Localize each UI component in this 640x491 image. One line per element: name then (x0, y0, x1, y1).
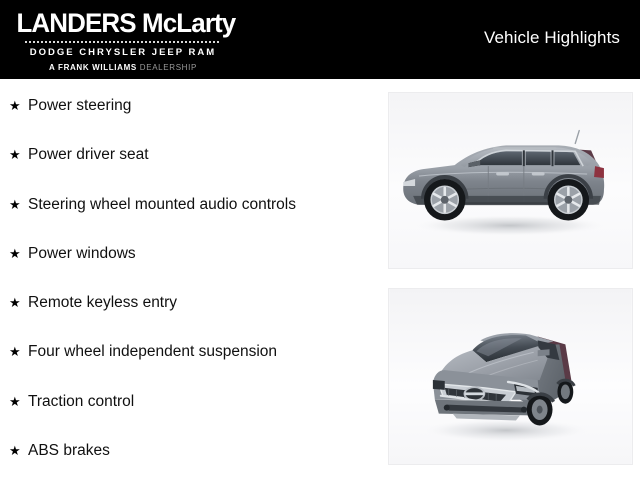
list-item-label: Power steering (28, 97, 388, 115)
vehicle-highlights-list: ★ Power steering ★ Power driver seat ★ S… (0, 79, 388, 480)
logo-tagline: A FRANK WILLIAMS DEALERSHIP (12, 62, 234, 74)
list-item-label: Four wheel independent suspension (28, 343, 388, 361)
list-item-label: Power windows (28, 245, 388, 263)
vehicle-photo-column (388, 79, 640, 480)
star-bullet-icon: ★ (9, 294, 28, 312)
list-item: ★ Power steering (0, 97, 388, 146)
list-item-label: Remote keyless entry (28, 294, 388, 312)
star-bullet-icon: ★ (9, 146, 28, 164)
list-item-label: Traction control (28, 393, 388, 411)
logo-tagline-bold: A FRANK WILLIAMS (49, 63, 137, 72)
star-bullet-icon: ★ (9, 343, 28, 361)
page-header: LANDERS McLarty DODGE CHRYSLER JEEP RAM … (0, 0, 640, 79)
list-item: ★ Steering wheel mounted audio controls (0, 196, 388, 245)
logo-brands-line: DODGE CHRYSLER JEEP RAM (12, 46, 234, 60)
list-item-label: ABS brakes (28, 442, 388, 460)
logo-divider-icon (25, 41, 221, 43)
star-bullet-icon: ★ (9, 245, 28, 263)
star-bullet-icon: ★ (9, 393, 28, 411)
logo-wordmark: LANDERS McLarty (16, 8, 229, 38)
star-bullet-icon: ★ (9, 196, 28, 214)
list-item: ★ Four wheel independent suspension (0, 343, 388, 392)
vehicle-photo-front[interactable] (388, 288, 633, 465)
list-item: ★ Power driver seat (0, 146, 388, 195)
list-item: ★ ABS brakes (0, 442, 388, 491)
list-item-label: Steering wheel mounted audio controls (28, 196, 388, 214)
list-item: ★ Remote keyless entry (0, 294, 388, 343)
list-item: ★ Traction control (0, 393, 388, 442)
logo-tagline-dim: DEALERSHIP (140, 63, 197, 72)
vehicle-photo-side[interactable] (388, 92, 633, 269)
star-bullet-icon: ★ (9, 97, 28, 115)
list-item: ★ Power windows (0, 245, 388, 294)
page-title: Vehicle Highlights (484, 28, 620, 48)
list-item-label: Power driver seat (28, 146, 388, 164)
star-bullet-icon: ★ (9, 442, 28, 460)
dealership-logo[interactable]: LANDERS McLarty DODGE CHRYSLER JEEP RAM … (12, 8, 234, 74)
